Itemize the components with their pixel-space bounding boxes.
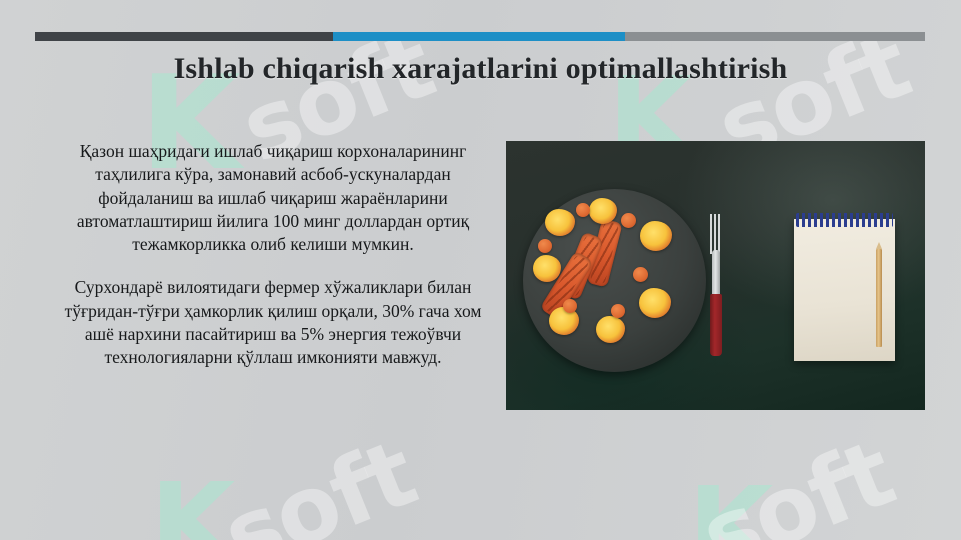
notepad-spiral-binding xyxy=(796,213,893,227)
fork xyxy=(709,214,723,356)
title-bar-segment-light xyxy=(625,32,925,41)
body-text-column: Қазон шаҳридаги ишлаб чиқариш корхоналар… xyxy=(58,140,488,369)
stuffed-pepper xyxy=(596,316,625,343)
fork-handle xyxy=(710,294,722,356)
body-paragraph-2: Сурхондарё вилоятидаги фермер хўжаликлар… xyxy=(58,276,488,369)
stuffed-pepper xyxy=(640,221,672,251)
watermark-logo-k: K xyxy=(688,472,773,540)
plate xyxy=(523,189,706,372)
carrot-slice xyxy=(538,239,552,253)
stuffed-pepper xyxy=(533,255,561,282)
title-decorative-bar xyxy=(35,32,925,41)
content-image xyxy=(506,141,925,410)
slide-canvas: K K K K soft soft soft soft Ishlab chiqa… xyxy=(0,0,961,540)
body-paragraph-1: Қазон шаҳридаги ишлаб чиқариш корхоналар… xyxy=(58,140,488,256)
carrot-slice xyxy=(576,203,590,217)
fork-tines xyxy=(710,214,722,254)
carrot-slice xyxy=(633,267,648,282)
title-bar-segment-dark xyxy=(35,32,333,41)
food-photo xyxy=(506,141,925,410)
watermark-word: soft xyxy=(687,420,907,540)
carrot-slice xyxy=(611,304,625,318)
title-bar-segment-accent xyxy=(333,32,625,41)
page-title: Ishlab chiqarish xarajatlarini optimalla… xyxy=(0,52,961,86)
notepad xyxy=(794,219,895,361)
fork-neck xyxy=(712,250,720,298)
stuffed-pepper xyxy=(545,209,575,236)
pencil xyxy=(876,249,882,347)
carrot-slice xyxy=(563,299,577,313)
stuffed-pepper xyxy=(639,288,671,318)
watermark-word: soft xyxy=(209,420,429,540)
watermark-logo-k: K xyxy=(150,468,235,540)
paragraph-spacer xyxy=(58,256,488,276)
carrot-slice xyxy=(621,213,636,228)
